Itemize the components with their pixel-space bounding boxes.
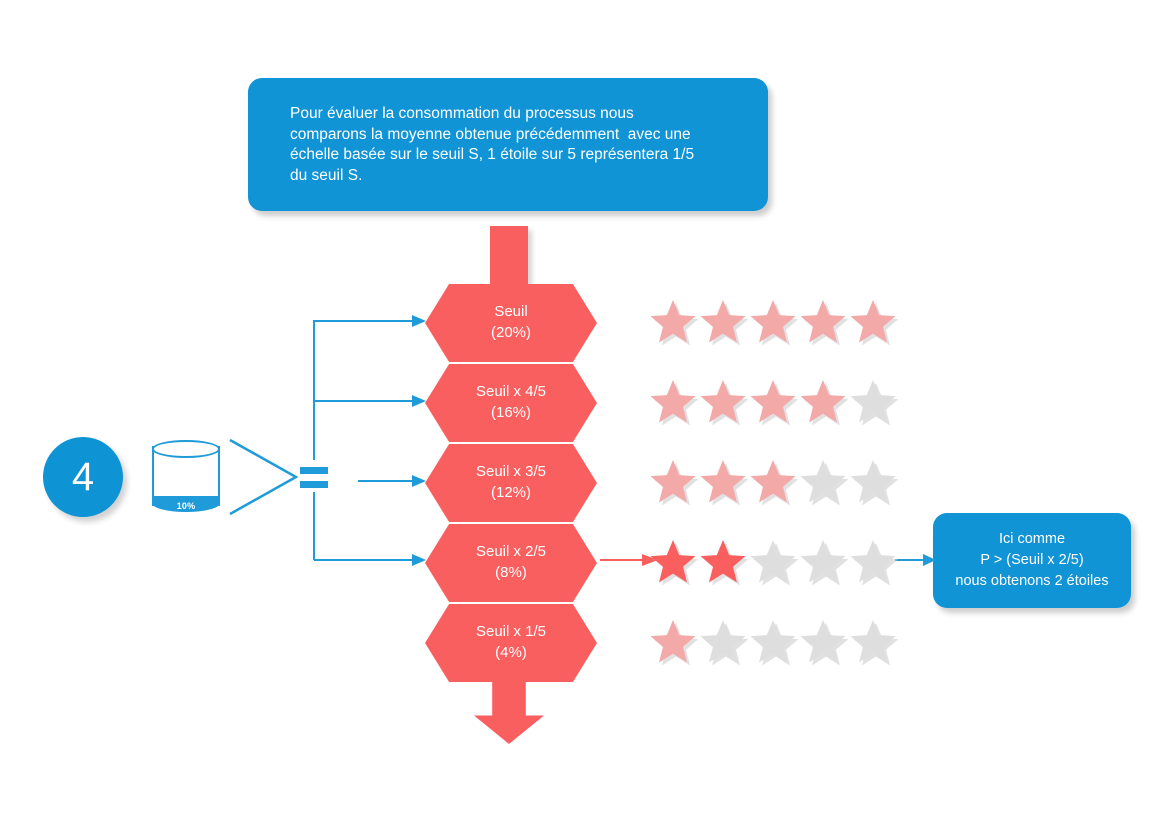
star-icon (848, 377, 898, 425)
callout-result-right: Ici comme P > (Seuil x 2/5) nous obtenon… (933, 513, 1131, 608)
star-icon (848, 297, 898, 345)
hexagon-percent-2: (16%) (425, 402, 597, 423)
equals-bar-bottom (300, 481, 328, 488)
star-row-5 (648, 613, 900, 669)
chevron-right-icon (228, 438, 300, 521)
star-icon (698, 617, 748, 665)
callout-top-line-2: comparons la moyenne obtenue précédemmen… (290, 125, 738, 146)
cylinder-gauge-icon: 10% (152, 440, 220, 512)
star-icon (698, 457, 748, 505)
hexagon-title-3: Seuil x 3/5 (425, 461, 597, 482)
process-outflow-arrow (474, 676, 544, 744)
threshold-level-4: Seuil x 2/5 (8%) (425, 524, 597, 602)
star-icon (748, 617, 798, 665)
callout-top-line-4: du seuil S. (290, 166, 738, 187)
star-icon (748, 537, 798, 585)
star-icon (798, 537, 848, 585)
star-icon (748, 297, 798, 345)
callout-top-line-3: échelle basée sur le seuil S, 1 étoile s… (290, 145, 738, 166)
cylinder-value-label: 10% (152, 501, 220, 511)
star-icon (798, 297, 848, 345)
hexagon-percent-1: (20%) (425, 322, 597, 343)
star-icon (848, 457, 898, 505)
hexagon-level-1: Seuil (20%) (425, 284, 597, 362)
hexagon-percent-5: (4%) (425, 642, 597, 663)
hexagon-percent-3: (12%) (425, 482, 597, 503)
threshold-level-1: Seuil (20%) (425, 284, 597, 362)
callout-right-line-2: P > (Seuil x 2/5) (933, 550, 1131, 571)
star-icon (648, 617, 698, 665)
hexagon-level-3: Seuil x 3/5 (12%) (425, 444, 597, 522)
callout-explanation-top: Pour évaluer la consommation du processu… (248, 78, 768, 211)
step-number-badge: 4 (43, 437, 123, 517)
star-row-4 (648, 533, 900, 589)
process-inflow-stub (490, 226, 528, 288)
hexagon-level-2: Seuil x 4/5 (16%) (425, 364, 597, 442)
star-row-1 (648, 293, 900, 349)
star-row-2 (648, 373, 900, 429)
hexagon-title-2: Seuil x 4/5 (425, 381, 597, 402)
callout-right-line-3: nous obtenons 2 étoiles (933, 571, 1131, 592)
star-icon (748, 457, 798, 505)
star-icon (848, 537, 898, 585)
star-icon (748, 377, 798, 425)
star-icon (698, 537, 748, 585)
threshold-level-2: Seuil x 4/5 (16%) (425, 364, 597, 442)
threshold-level-5: Seuil x 1/5 (4%) (425, 604, 597, 682)
star-icon (798, 457, 848, 505)
star-icon (848, 617, 898, 665)
star-icon (698, 297, 748, 345)
callout-top-line-1: Pour évaluer la consommation du processu… (290, 104, 738, 125)
star-icon (648, 537, 698, 585)
star-icon (648, 297, 698, 345)
star-icon (648, 457, 698, 505)
threshold-scale-stack: Seuil (20%) Seuil x 4/5 (16%) Seuil x 3/… (425, 284, 597, 684)
star-row-3 (648, 453, 900, 509)
cylinder-top-ellipse (152, 440, 220, 458)
diagram-canvas: Pour évaluer la consommation du processu… (0, 0, 1169, 825)
star-icon (798, 377, 848, 425)
equals-sign-icon (300, 467, 328, 495)
hexagon-title-1: Seuil (425, 301, 597, 322)
star-icon (648, 377, 698, 425)
hexagon-level-5: Seuil x 1/5 (4%) (425, 604, 597, 682)
hexagon-title-4: Seuil x 2/5 (425, 541, 597, 562)
hexagon-level-4: Seuil x 2/5 (8%) (425, 524, 597, 602)
star-icon (698, 377, 748, 425)
equals-bar-top (300, 467, 328, 474)
threshold-level-3: Seuil x 3/5 (12%) (425, 444, 597, 522)
hexagon-title-5: Seuil x 1/5 (425, 621, 597, 642)
hexagon-percent-4: (8%) (425, 562, 597, 583)
star-icon (798, 617, 848, 665)
callout-right-line-1: Ici comme (933, 529, 1131, 550)
